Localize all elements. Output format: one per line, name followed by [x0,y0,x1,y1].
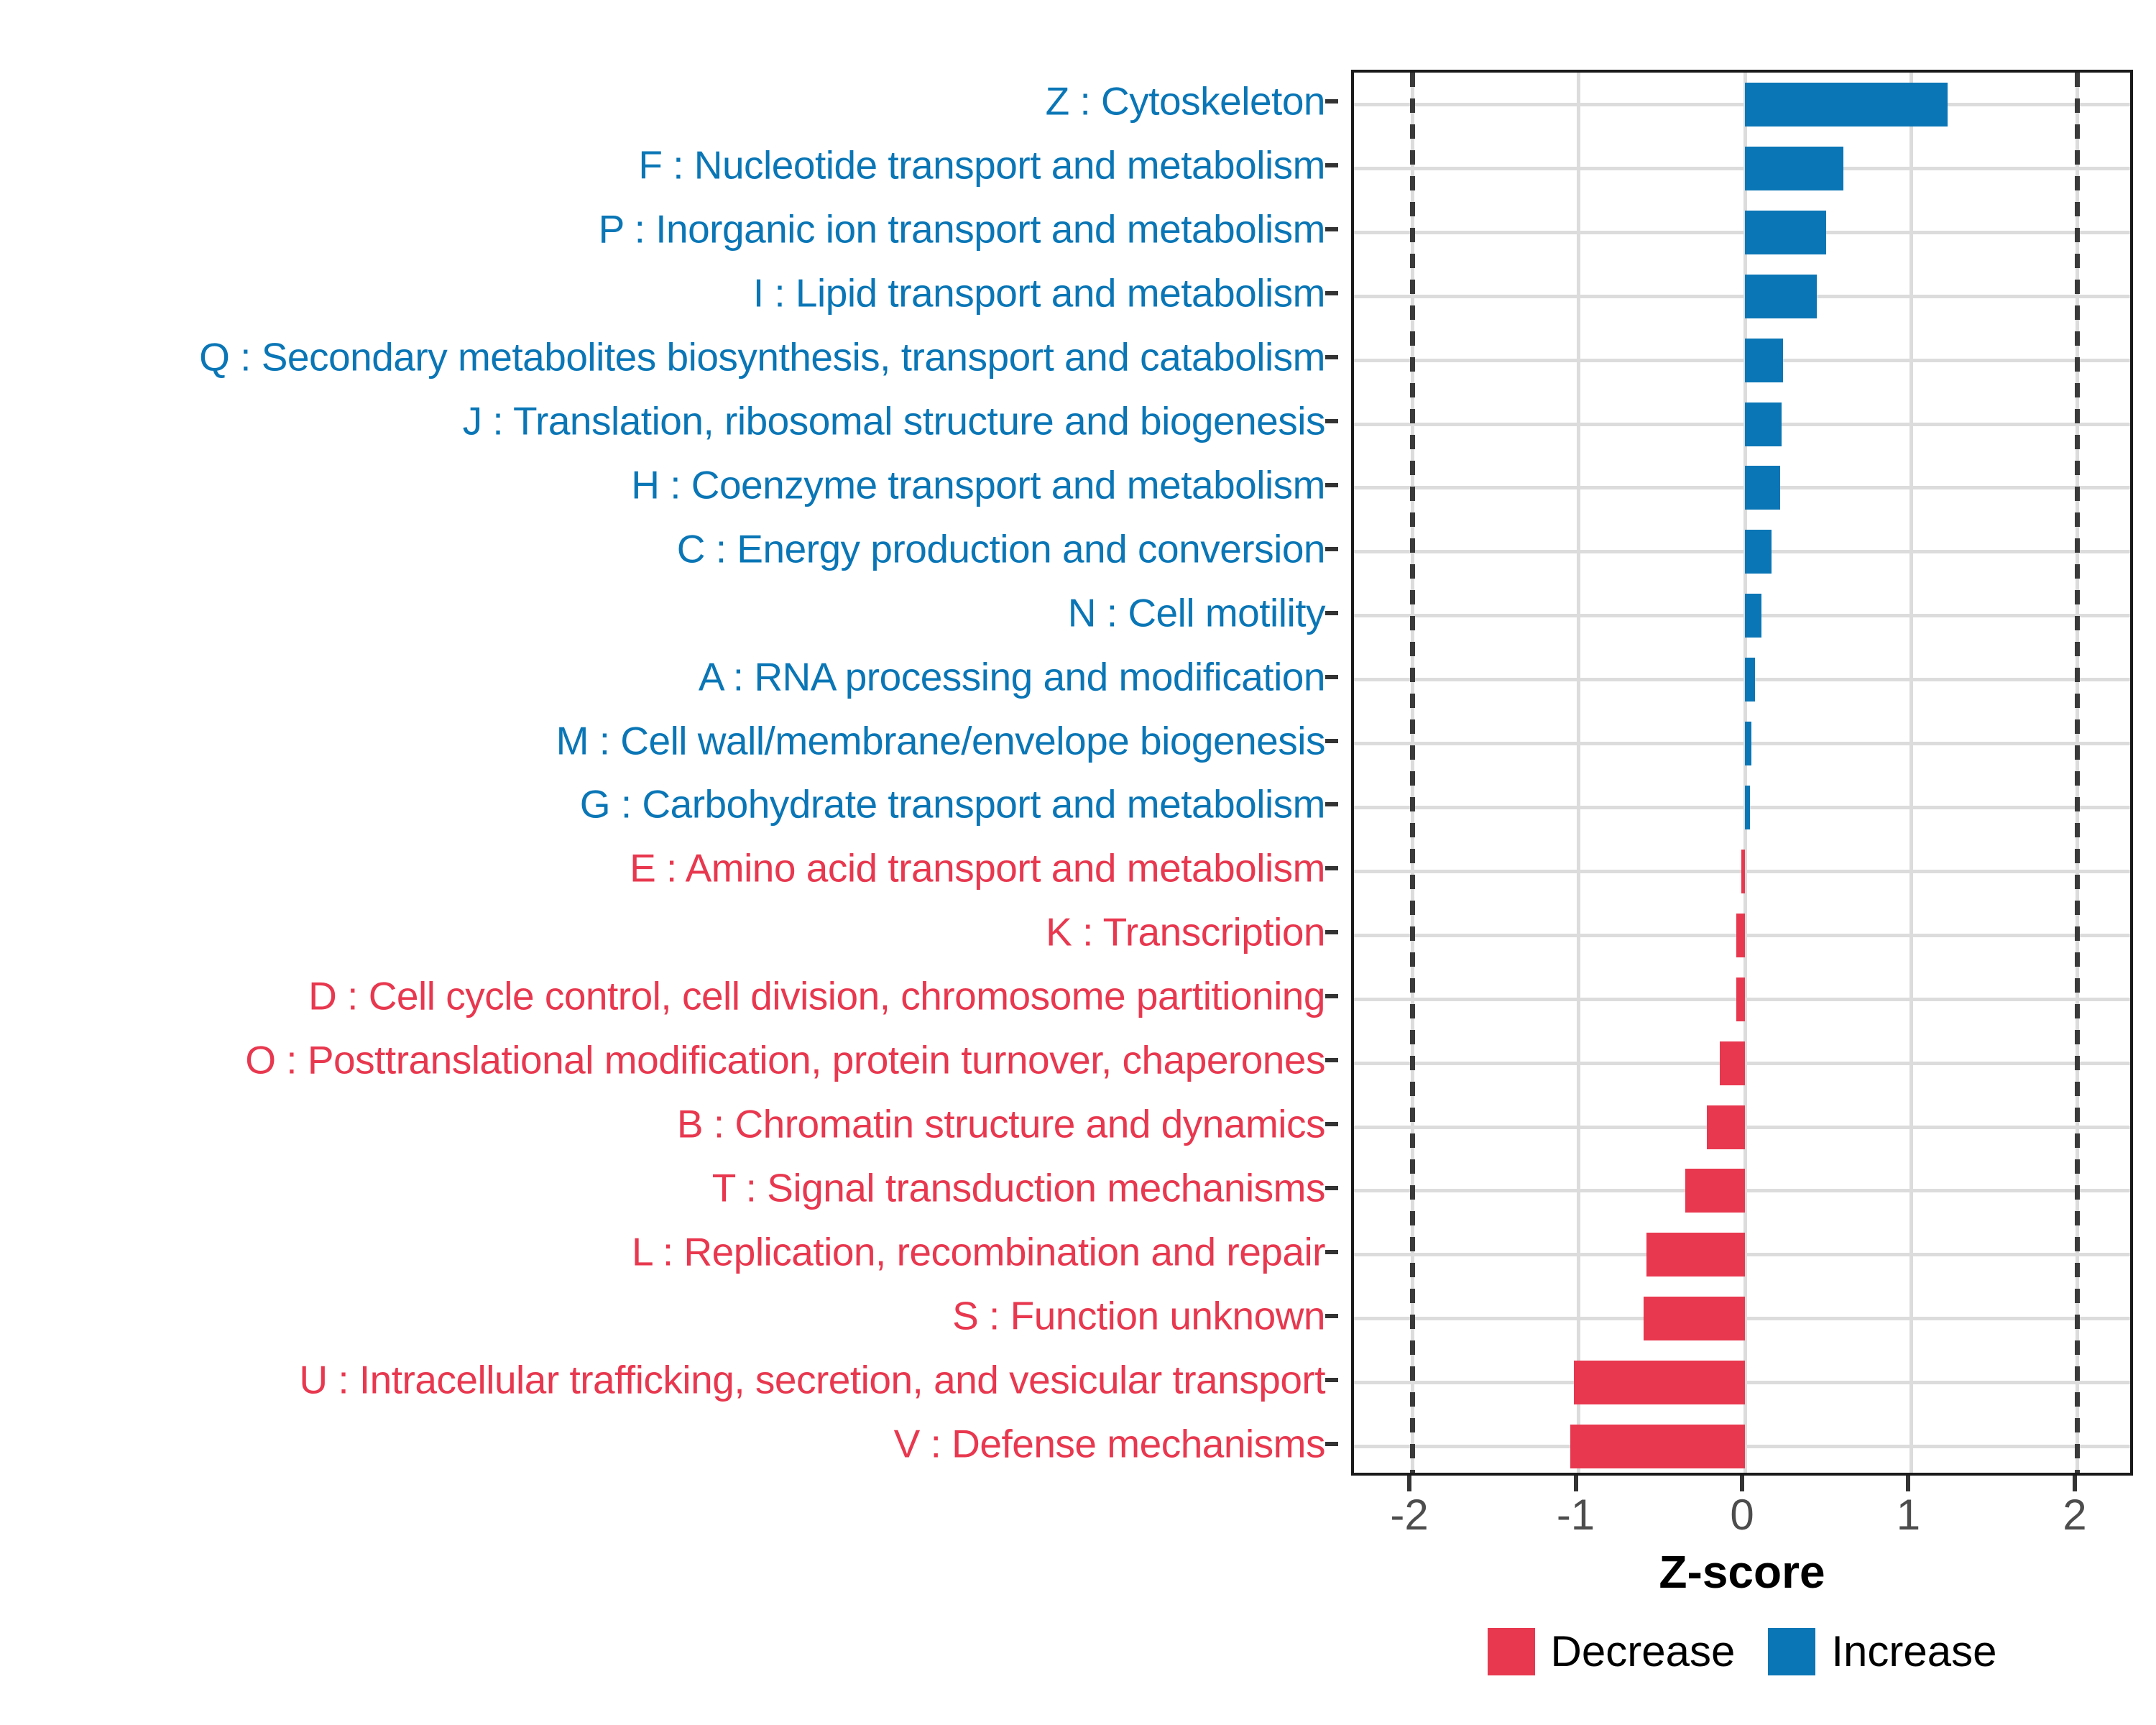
y-axis-tick-mark [1325,355,1338,359]
y-axis-tick-mark [1325,163,1338,167]
y-axis-tick-mark [1325,99,1338,103]
legend-item[interactable]: Decrease [1488,1628,1736,1675]
legend: DecreaseIncrease [1351,1628,2133,1675]
y-axis-tick-label: K : Transcription [1046,913,1338,952]
y-axis-tick-label: F : Nucleotide transport and metabolism [638,146,1338,185]
y-axis-tick-label: Q : Secondary metabolites biosynthesis, … [199,338,1338,377]
y-axis-tick-mark [1325,227,1338,231]
legend-swatch-icon [1768,1628,1815,1675]
bar [1745,658,1755,701]
x-axis-tick-label: -2 [1390,1491,1428,1539]
bar [1646,1233,1745,1276]
x-axis-ticks: -2-1012 [1351,1476,2133,1504]
y-axis-tick-label: D : Cell cycle control, cell division, c… [308,977,1338,1016]
y-axis-tick-label: U : Intracellular trafficking, secretion… [299,1360,1338,1399]
y-axis-tick-mark [1325,419,1338,423]
y-axis-tick-label: J : Translation, ribosomal structure and… [463,402,1338,441]
y-axis-tick-mark [1325,1442,1338,1446]
y-axis-tick-mark [1325,611,1338,615]
y-axis-tick-label: T : Signal transduction mechanisms [712,1168,1338,1207]
y-axis-tick-label: O : Posttranslational modification, prot… [245,1041,1338,1080]
y-axis-tick-label: B : Chromatin structure and dynamics [677,1105,1338,1144]
bar [1741,850,1745,893]
y-axis-tick-label: H : Coenzyme transport and metabolism [631,465,1338,505]
x-axis-tick-mark [1407,1476,1411,1491]
y-axis-tick-label: N : Cell motility [1068,593,1338,632]
y-axis-tick-mark [1325,1058,1338,1062]
y-axis-tick-mark [1325,930,1338,934]
bar [1707,1105,1745,1149]
y-axis-tick-label: P : Inorganic ion transport and metaboli… [599,210,1338,249]
bar [1745,83,1948,126]
x-axis-tick-label: -1 [1557,1491,1595,1539]
x-axis-tick-label: 2 [2063,1491,2086,1539]
bar-layer [1354,73,2130,1473]
y-axis-tick-label: E : Amino acid transport and metabolism [630,849,1338,888]
y-axis-tick-mark [1325,547,1338,551]
y-axis-tick-mark [1325,1122,1338,1126]
bar [1745,722,1751,765]
x-axis-title: Z-score [1351,1545,2133,1598]
bar [1745,147,1843,190]
y-axis-tick-mark [1325,675,1338,679]
y-axis-tick-mark [1325,1314,1338,1318]
bar [1720,1041,1745,1085]
y-axis-tick-mark [1325,291,1338,295]
bar [1644,1297,1745,1340]
bar [1736,977,1745,1021]
bar [1685,1169,1745,1213]
bar [1745,211,1826,254]
x-axis-tick-mark [1906,1476,1910,1491]
y-axis-tick-mark [1325,1186,1338,1190]
y-axis-tick-mark [1325,994,1338,998]
y-axis-tick-mark [1325,1250,1338,1254]
chart-figure: Z : CytoskeletonF : Nucleotide transport… [0,0,2156,1725]
y-axis-tick-mark [1325,802,1338,806]
y-axis-category-labels: Z : CytoskeletonF : Nucleotide transport… [0,70,1338,1476]
y-axis-tick-label: S : Function unknown [952,1296,1338,1335]
x-axis-tick-mark [1740,1476,1744,1491]
y-axis-tick-label: G : Carbohydrate transport and metabolis… [580,785,1338,824]
legend-item[interactable]: Increase [1768,1628,1996,1675]
y-axis-tick-label: A : RNA processing and modification [699,657,1338,696]
y-axis-tick-label: Z : Cytoskeleton [1046,82,1338,121]
bar [1745,786,1750,829]
x-axis-tick-mark [1574,1476,1578,1491]
bar [1745,275,1817,318]
bar [1736,914,1745,957]
y-axis-tick-label: I : Lipid transport and metabolism [753,274,1338,313]
bar [1745,466,1780,510]
bar [1745,402,1782,446]
bar [1574,1361,1745,1404]
bar [1745,594,1761,638]
legend-swatch-icon [1488,1628,1535,1675]
bar [1570,1425,1745,1468]
x-axis-tick-label: 1 [1897,1491,1920,1539]
y-axis-tick-mark [1325,1378,1338,1382]
y-axis-tick-label: C : Energy production and conversion [677,529,1338,569]
y-axis-tick-label: V : Defense mechanisms [894,1424,1338,1463]
y-axis-tick-label: M : Cell wall/membrane/envelope biogenes… [556,721,1338,760]
y-axis-tick-label: L : Replication, recombination and repai… [632,1232,1338,1271]
bar [1745,530,1772,574]
legend-label: Decrease [1551,1628,1736,1675]
y-axis-tick-mark [1325,739,1338,743]
x-axis-tick-label: 0 [1730,1491,1754,1539]
x-axis-tick-mark [2073,1476,2077,1491]
plot-panel [1351,70,2133,1476]
bar [1745,339,1783,382]
y-axis-tick-mark [1325,483,1338,487]
legend-label: Increase [1831,1628,1996,1675]
y-axis-tick-mark [1325,866,1338,870]
